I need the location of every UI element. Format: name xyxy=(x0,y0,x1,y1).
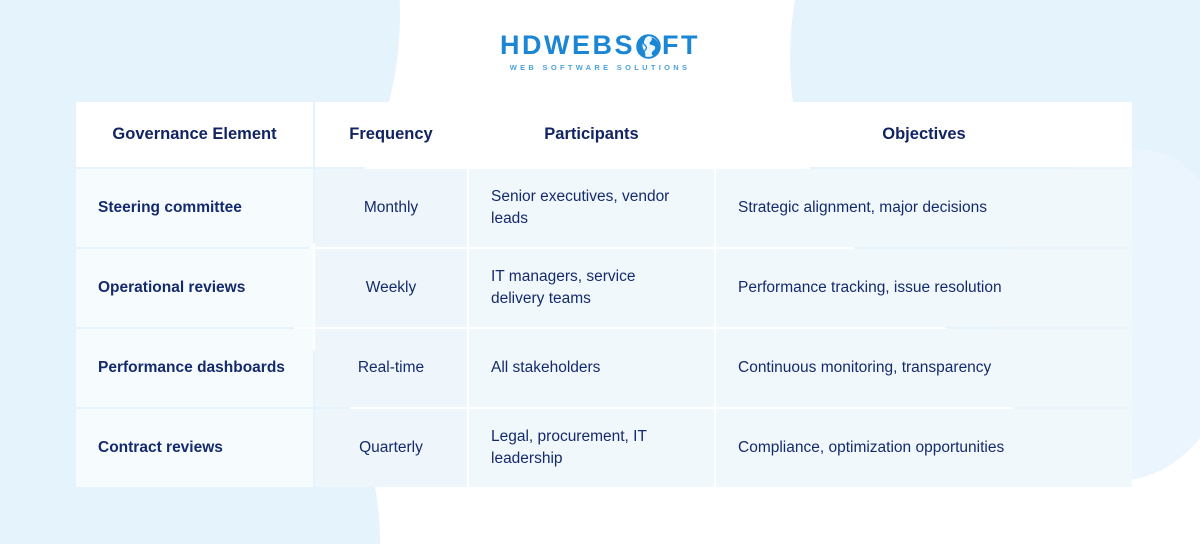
logo-tagline: WEB SOFTWARE SOLUTIONS xyxy=(510,64,691,72)
cell-element: Performance dashboards xyxy=(76,329,313,407)
table-row: Performance dashboards Real-time All sta… xyxy=(76,329,1132,407)
logo-text-part1: HDWEBS xyxy=(500,32,635,59)
column-header-frequency: Frequency xyxy=(315,102,467,167)
cell-frequency: Quarterly xyxy=(315,409,467,487)
table-row: Operational reviews Weekly IT managers, … xyxy=(76,249,1132,327)
cell-participants: IT managers, service delivery teams xyxy=(469,249,714,327)
cell-element: Operational reviews xyxy=(76,249,313,327)
cell-objectives: Strategic alignment, major decisions xyxy=(716,169,1132,247)
table-row: Steering committee Monthly Senior execut… xyxy=(76,169,1132,247)
table-header: Governance Element Frequency Participant… xyxy=(76,102,1132,167)
cell-objectives: Performance tracking, issue resolution xyxy=(716,249,1132,327)
brand-logo: HDWEBS FT WEB SOFTWARE SOLUTIONS xyxy=(0,32,1200,72)
globe-icon xyxy=(636,34,661,59)
cell-element: Steering committee xyxy=(76,169,313,247)
cell-participants: Legal, procurement, IT leadership xyxy=(469,409,714,487)
governance-table: Governance Element Frequency Participant… xyxy=(74,100,1134,489)
cell-frequency: Monthly xyxy=(315,169,467,247)
cell-frequency: Weekly xyxy=(315,249,467,327)
column-header-objectives: Objectives xyxy=(716,102,1132,167)
table-body: Steering committee Monthly Senior execut… xyxy=(76,169,1132,487)
cell-participants: Senior executives, vendor leads xyxy=(469,169,714,247)
table-row: Contract reviews Quarterly Legal, procur… xyxy=(76,409,1132,487)
cell-participants: All stakeholders xyxy=(469,329,714,407)
table-header-row: Governance Element Frequency Participant… xyxy=(76,102,1132,167)
cell-element: Contract reviews xyxy=(76,409,313,487)
column-header-participants: Participants xyxy=(469,102,714,167)
cell-objectives: Compliance, optimization opportunities xyxy=(716,409,1132,487)
logo-wordmark: HDWEBS FT xyxy=(500,32,700,59)
column-header-governance-element: Governance Element xyxy=(76,102,313,167)
governance-table-container: Governance Element Frequency Participant… xyxy=(74,100,1126,489)
cell-objectives: Continuous monitoring, transparency xyxy=(716,329,1132,407)
cell-frequency: Real-time xyxy=(315,329,467,407)
logo-text-part2: FT xyxy=(662,32,700,59)
